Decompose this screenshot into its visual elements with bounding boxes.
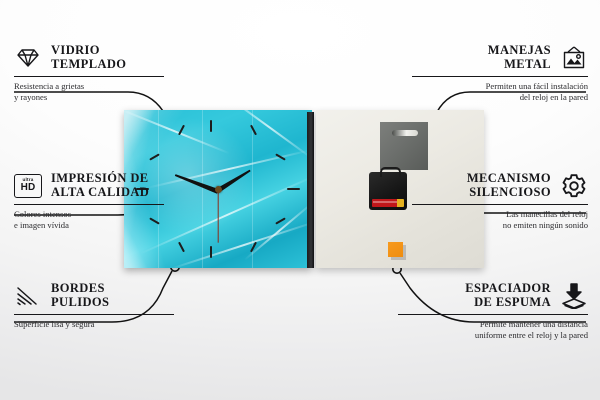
feature-foam-desc: Permite mantener una distancia uniforme …	[398, 319, 588, 340]
feature-foam-rule	[398, 314, 588, 315]
feature-mechanism-head: MECANISMO SILENCIOSO	[412, 172, 588, 199]
clock-movement-box	[369, 172, 407, 210]
feature-print: ultra HD IMPRESIÓN DE ALTA CALIDAD Color…	[14, 172, 164, 230]
polished-edges-icon	[14, 285, 42, 307]
feature-print-rule	[14, 204, 164, 205]
feature-glass-title: VIDRIO TEMPLADO	[51, 44, 126, 71]
feature-mechanism-title: MECANISMO SILENCIOSO	[467, 172, 551, 199]
hanger-slot	[392, 130, 418, 136]
feature-mechanism-rule	[412, 204, 588, 205]
feature-glass: VIDRIO TEMPLADO Resistencia a grietas y …	[14, 44, 164, 102]
hd-badge-large: HD	[21, 183, 36, 193]
feature-hooks-rule	[412, 76, 588, 77]
feature-hooks-desc: Permiten una fácil instalación del reloj…	[412, 81, 588, 102]
battery	[372, 199, 404, 207]
feature-hooks: MANEJAS METAL Permiten una fácil instala…	[412, 44, 588, 102]
feature-print-desc: Colores intensos e imagen vívida	[14, 209, 164, 230]
feature-glass-desc: Resistencia a grietas y rayones	[14, 81, 164, 102]
feature-edges-title: BORDES PULIDOS	[51, 282, 109, 309]
feature-hooks-title: MANEJAS METAL	[488, 44, 551, 71]
feature-edges-head: BORDES PULIDOS	[14, 282, 174, 309]
metal-hanger-plate	[380, 122, 428, 170]
feature-edges-rule	[14, 314, 174, 315]
feature-foam-head: ESPACIADOR DE ESPUMA	[398, 282, 588, 309]
feature-mechanism: MECANISMO SILENCIOSO Las manecillas del …	[412, 172, 588, 230]
feature-edges: BORDES PULIDOS Superficie lisa y segura	[14, 282, 174, 330]
movement-handle	[380, 167, 401, 177]
feature-glass-rule	[14, 76, 164, 77]
feature-print-head: ultra HD IMPRESIÓN DE ALTA CALIDAD	[14, 172, 164, 199]
infographic-stage: VIDRIO TEMPLADO Resistencia a grietas y …	[0, 0, 600, 400]
clock-side-edge	[307, 112, 314, 268]
feature-hooks-head: MANEJAS METAL	[412, 44, 588, 71]
foam-spacer	[388, 242, 403, 257]
feature-foam-title: ESPACIADOR DE ESPUMA	[465, 282, 551, 309]
gear-icon	[560, 173, 588, 199]
feature-edges-desc: Superficie lisa y segura	[14, 319, 174, 330]
diamond-icon	[14, 47, 42, 69]
ultra-hd-badge-icon: ultra HD	[14, 174, 42, 198]
feature-foam: ESPACIADOR DE ESPUMA Permite mantener un…	[398, 282, 588, 340]
foam-spacer-arrow-icon	[560, 283, 588, 309]
feature-glass-head: VIDRIO TEMPLADO	[14, 44, 164, 71]
feature-print-title: IMPRESIÓN DE ALTA CALIDAD	[51, 172, 149, 199]
feature-mechanism-desc: Las manecillas del reloj no emiten ningú…	[412, 209, 588, 230]
framed-picture-hanging-icon	[560, 46, 588, 70]
clock-center-pivot	[215, 186, 222, 193]
clock-second-hand	[217, 190, 218, 242]
clock-minute-hand	[174, 173, 219, 194]
